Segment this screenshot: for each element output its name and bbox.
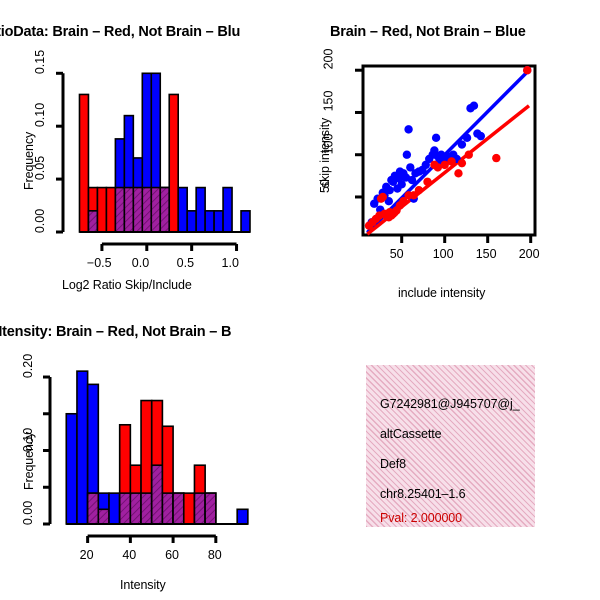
ratio-histogram-canvas: [0, 0, 300, 300]
intensity-xtick-1: 40: [122, 548, 136, 562]
intensity-ytick-4: 0.20: [21, 354, 35, 378]
scatter-ytick-1: 100: [321, 133, 335, 154]
scatter-xtick-2: 150: [476, 247, 497, 261]
ratio-ytick-1: 0.05: [33, 156, 47, 180]
scatter-ytick-0: 50: [318, 179, 332, 193]
intensity-histogram-canvas: [0, 300, 300, 600]
ratio-xtick-2: 0.5: [177, 256, 194, 270]
scatter-xtick-1: 100: [433, 247, 454, 261]
panel-intensity-histogram: ne Itensity: Brain – Red, Not Brain – B …: [0, 300, 300, 600]
ratio-xtick-0: −0.5: [87, 256, 112, 270]
panel-scatter: Brain – Red, Not Brain – Blue skip inten…: [300, 0, 600, 300]
ratio-xtick-1: 0.0: [132, 256, 149, 270]
ratio-xtick-3: 1.0: [222, 256, 239, 270]
ratio-ytick-0: 0.00: [33, 209, 47, 233]
info-line-id: G7242981@J945707@j_: [380, 397, 520, 411]
info-line-event: altCassette: [380, 427, 441, 441]
scatter-xtick-3: 200: [519, 247, 540, 261]
intensity-ytick-0: 0.00: [21, 501, 35, 525]
info-line-locus: chr8.25401–1.6: [380, 487, 465, 501]
ratio-ytick-2: 0.10: [33, 103, 47, 127]
scatter-ytick-2: 150: [321, 91, 335, 112]
annotation-info-box: G7242981@J945707@j_ altCassette Def8 chr…: [366, 365, 535, 527]
intensity-ytick-2: 0.10: [21, 427, 35, 451]
panel-ratio-histogram: RatioData: Brain – Red, Not Brain – Blu …: [0, 0, 300, 300]
info-line-pval: Pval: 2.000000: [380, 511, 462, 525]
intensity-xtick-2: 60: [165, 548, 179, 562]
intensity-xtick-3: 80: [208, 548, 222, 562]
scatter-xtick-0: 50: [390, 247, 404, 261]
scatter-ytick-3: 200: [321, 49, 335, 70]
info-line-gene: Def8: [380, 457, 406, 471]
intensity-xtick-0: 20: [80, 548, 94, 562]
ratio-ytick-3: 0.15: [33, 50, 47, 74]
